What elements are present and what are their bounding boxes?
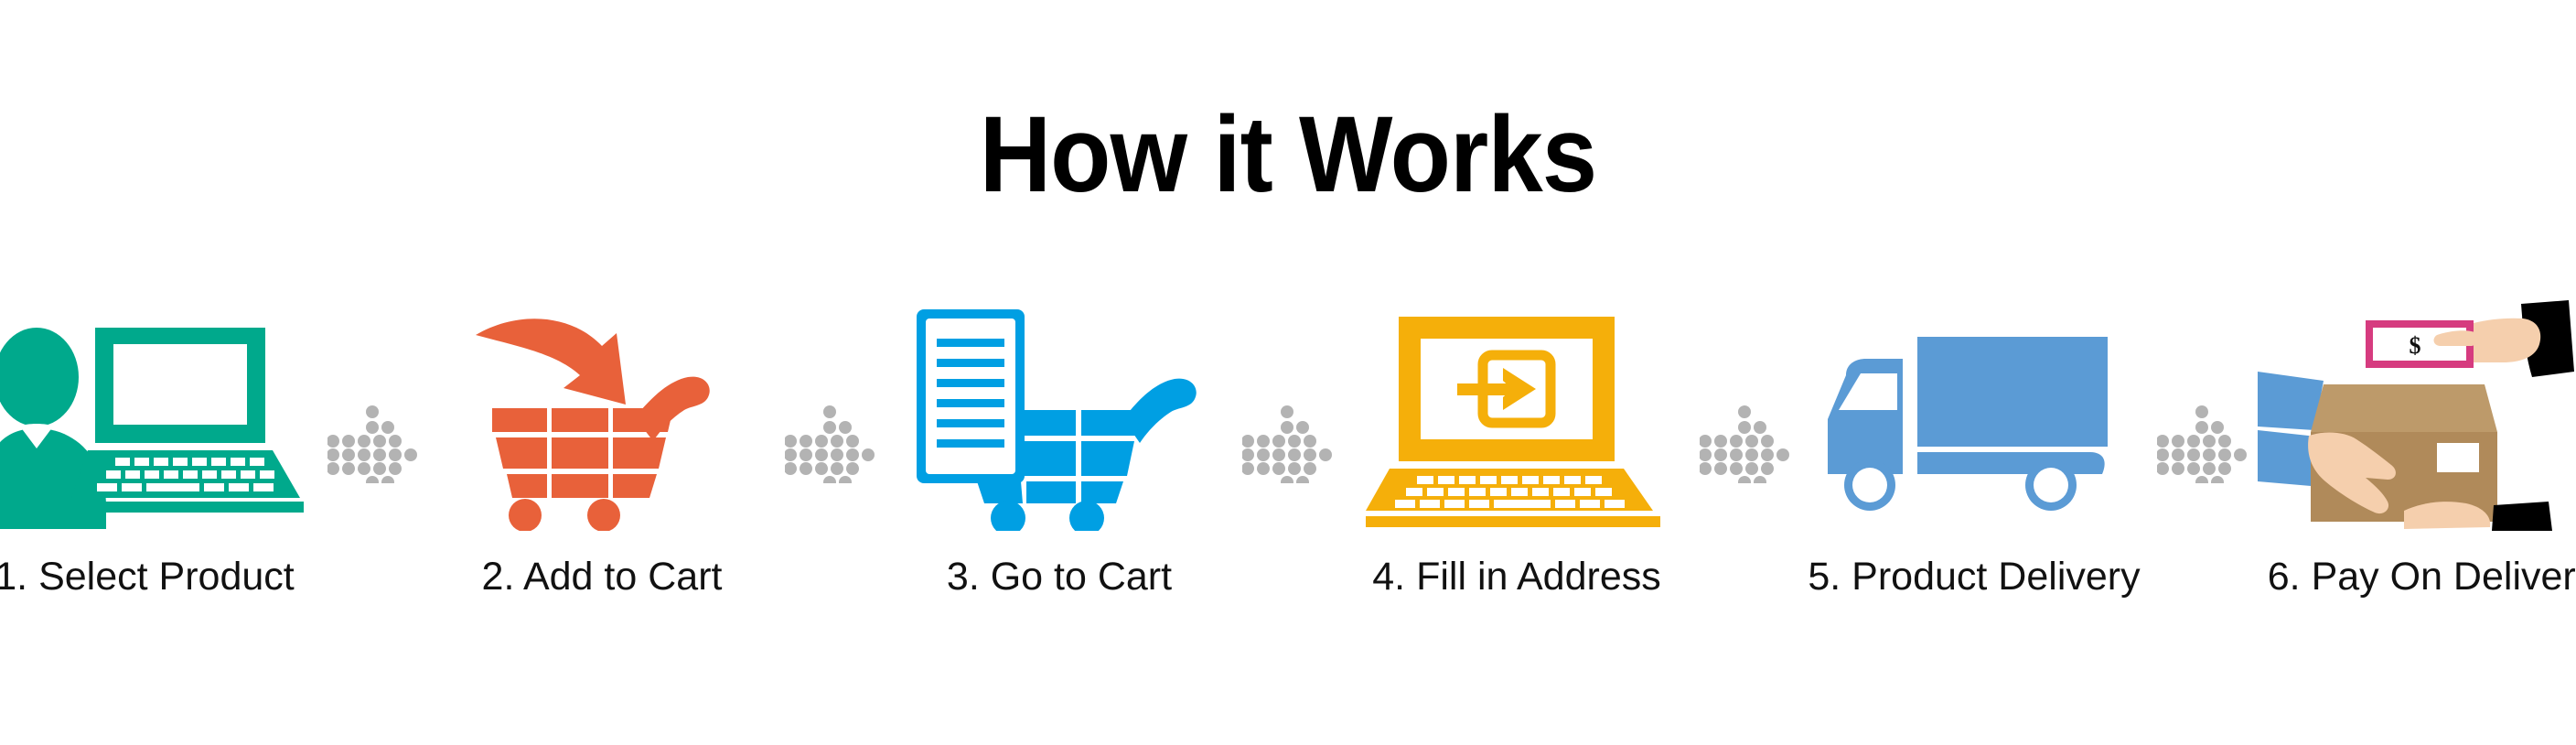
dotted-arrow-right-icon xyxy=(2157,405,2249,483)
step-3-go-to-cart[interactable]: 3. Go to Cart xyxy=(876,302,1242,668)
step-6-icon-box: $ xyxy=(2249,302,2576,531)
step-4-fill-in-address[interactable]: 4. Fill in Address xyxy=(1334,302,1700,668)
hands-exchanging-box-and-money-icon: $ xyxy=(2258,293,2576,531)
page-title: How it Works xyxy=(103,101,2474,209)
separator-1 xyxy=(327,302,419,668)
infographic-page: How it Works xyxy=(0,0,2576,745)
step-5-product-delivery[interactable]: 5. Product Delivery xyxy=(1791,302,2157,668)
laptop-with-login-arrow-icon xyxy=(1366,311,1668,531)
step-5-label: 5. Product Delivery xyxy=(1808,555,2140,599)
separator-4 xyxy=(1700,302,1791,668)
step-2-label: 2. Add to Cart xyxy=(482,555,723,599)
separator-3 xyxy=(1242,302,1334,668)
step-4-icon-box xyxy=(1334,302,1700,531)
delivery-truck-icon xyxy=(1819,320,2130,531)
separator-5 xyxy=(2157,302,2249,668)
step-5-icon-box xyxy=(1791,302,2157,531)
separator-2 xyxy=(785,302,876,668)
step-6-label: 6. Pay On Delivery xyxy=(2268,555,2576,599)
step-4-label: 4. Fill in Address xyxy=(1372,555,1660,599)
shipping-label xyxy=(2437,443,2479,472)
step-2-icon-box xyxy=(419,302,785,531)
box-top xyxy=(2311,384,2497,432)
step-3-icon-box xyxy=(876,302,1242,531)
dotted-arrow-right-icon xyxy=(785,405,876,483)
step-1-select-product[interactable]: 1. Select Product xyxy=(0,302,327,668)
dotted-arrow-right-icon xyxy=(1242,405,1334,483)
person-with-laptop-icon xyxy=(0,311,309,531)
cart-with-arrow-icon xyxy=(465,302,739,531)
step-3-label: 3. Go to Cart xyxy=(947,555,1172,599)
dollar-sign: $ xyxy=(2410,332,2421,359)
step-2-add-to-cart[interactable]: 2. Add to Cart xyxy=(419,302,785,668)
step-1-label: 1. Select Product xyxy=(0,555,295,599)
steps-row: 1. Select Product xyxy=(0,302,2576,668)
document-with-cart-icon xyxy=(913,302,1206,531)
step-6-pay-on-delivery[interactable]: $ xyxy=(2249,302,2576,668)
dotted-arrow-right-icon xyxy=(1700,405,1791,483)
step-1-icon-box xyxy=(0,302,327,531)
dotted-arrow-right-icon xyxy=(327,405,419,483)
black-cuff-bottom xyxy=(2492,502,2552,531)
